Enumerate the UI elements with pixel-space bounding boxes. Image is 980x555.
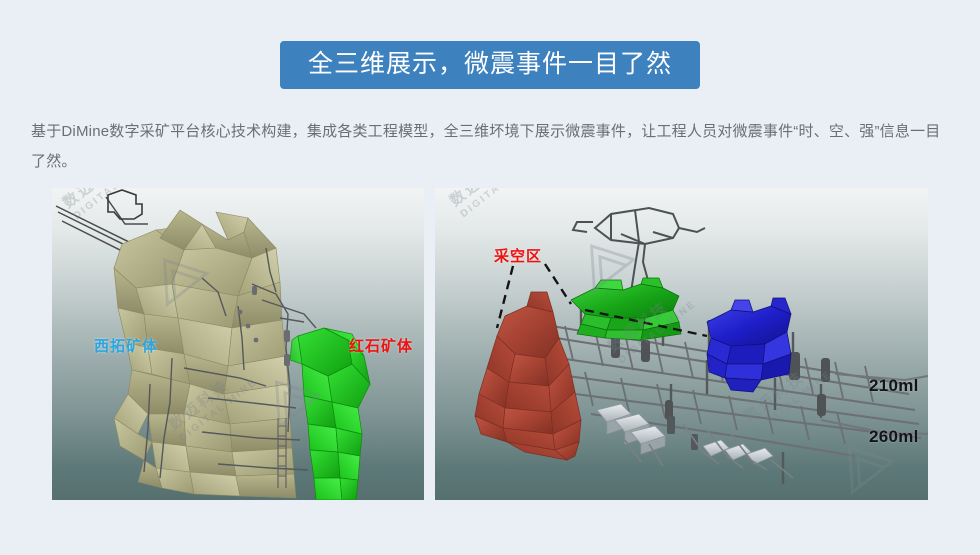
label-goaf: 采空区: [494, 245, 542, 266]
depth-label-210ml: 210ml: [869, 376, 919, 396]
figure-goaf-tunnel-network: 数迈科技 DIGITAL MINE 数迈科技 DIGITAL MINE 数迈科技…: [435, 188, 928, 500]
label-xituo-orebody: 西拓矿体: [94, 335, 158, 356]
banner-container: 全三维展示，微震事件一目了然: [0, 41, 980, 89]
intro-paragraph: 基于DiMine数字采矿平台核心技术构建，集成各类工程模型，全三维坏境下展示微震…: [31, 117, 949, 177]
goaf-red: [475, 292, 581, 460]
page-title-banner: 全三维展示，微震事件一目了然: [280, 41, 700, 89]
orebody-khaki-upper: [114, 210, 288, 394]
figures-row: 数迈科技 DIGITAL MINE 数迈科技 DIGITAL MINE 西拓矿体…: [52, 188, 928, 500]
depth-label-260ml: 260ml: [869, 427, 919, 447]
label-hongshi-orebody: 红石矿体: [349, 335, 413, 356]
figure-orebody-model: 数迈科技 DIGITAL MINE 数迈科技 DIGITAL MINE 西拓矿体…: [52, 188, 424, 500]
